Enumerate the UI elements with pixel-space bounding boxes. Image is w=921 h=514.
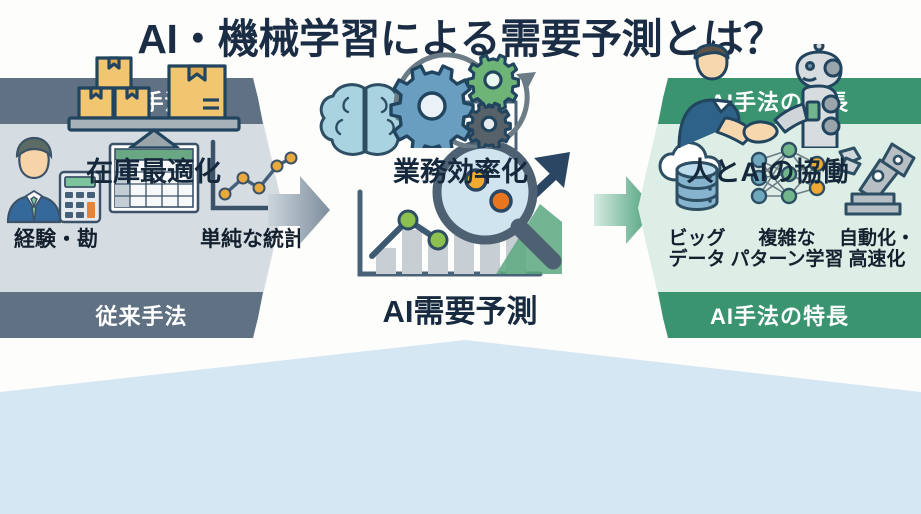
benefit-label: 業務効率化 bbox=[393, 150, 528, 189]
ai-footer-band: AI手法の特長 bbox=[638, 292, 921, 338]
ai-item-label: 自動化・ 高速化 bbox=[839, 229, 915, 270]
benefits-panel bbox=[0, 340, 921, 514]
benefit-label: 人とAIの協働 bbox=[687, 150, 849, 189]
ai-item-label-line1: 複雑な bbox=[758, 228, 815, 249]
ai-item-label-line1: ビッグ bbox=[668, 228, 725, 249]
ai-forecast-label: AI需要予測 bbox=[300, 286, 620, 331]
balance-scale-boxes-icon bbox=[61, 40, 247, 148]
gears-icon bbox=[376, 40, 546, 148]
benefit-human-ai-collaboration: 人とAIの協働 bbox=[614, 40, 921, 189]
infographic-canvas: AI・機械学習による需要予測とは？ 従来手法 bbox=[0, 0, 921, 514]
ai-footer-label: AI手法の特長 bbox=[710, 299, 849, 331]
conventional-footer-band: 従来手法 bbox=[0, 292, 283, 338]
conventional-item-label: 経験・勘 bbox=[14, 229, 98, 252]
benefit-operational-efficiency: 業務効率化 bbox=[307, 40, 614, 189]
benefits-row: 在庫最適化 bbox=[0, 40, 921, 174]
ai-item-label-line2: 高速化 bbox=[848, 249, 905, 270]
ai-item-label-line2: データ bbox=[668, 249, 725, 270]
ai-item-label: ビッグ データ bbox=[668, 229, 725, 270]
human-robot-handshake-icon bbox=[673, 40, 863, 148]
ai-item-label-line1: 自動化・ bbox=[839, 228, 915, 249]
benefit-inventory-optimization: 在庫最適化 bbox=[0, 40, 307, 189]
benefit-label: 在庫最適化 bbox=[86, 150, 221, 189]
ai-item-label-line2: パターン学習 bbox=[730, 249, 843, 270]
ai-item-label: 複雑な パターン学習 bbox=[730, 229, 843, 270]
conventional-footer-label: 従来手法 bbox=[95, 299, 187, 331]
